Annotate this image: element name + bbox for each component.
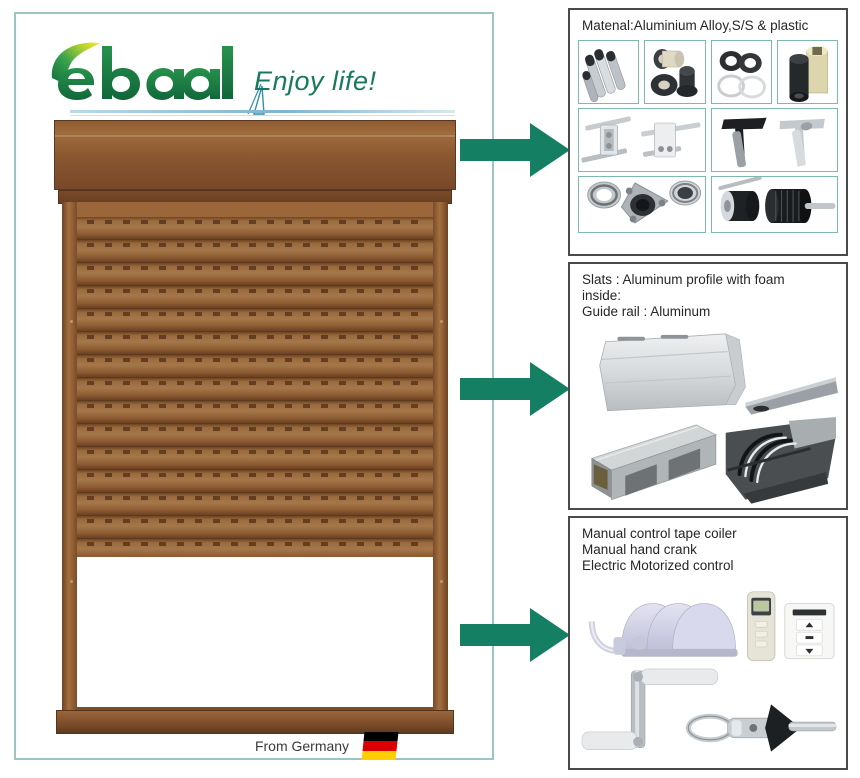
shutter-slat <box>77 447 433 470</box>
hardware-cell-roller-motors <box>711 176 839 233</box>
brand-logo-area: Enjoy life! <box>46 36 466 116</box>
brand-tagline: Enjoy life! <box>254 66 377 97</box>
slats-panel: Slats : Aluminum profile with foam insid… <box>568 262 848 510</box>
product-showcase-panel: Enjoy life! From Germany <box>14 12 494 760</box>
shutter-slat <box>77 263 433 286</box>
shutter-slat <box>77 309 433 332</box>
material-panel-title: Matenal:Aluminium Alloy,S/S & plastic <box>570 10 846 36</box>
shutter-slat <box>77 240 433 263</box>
shutter-curtain-slats <box>77 217 433 557</box>
slat-ventilation-holes <box>87 220 423 224</box>
infographic-canvas: Enjoy life! From Germany <box>0 0 860 778</box>
hardware-row <box>578 176 838 233</box>
origin-footer: From Germany <box>166 726 486 766</box>
guide-rail-images <box>578 415 838 508</box>
slats-panel-title: Slats : Aluminum profile with foam insid… <box>570 264 846 322</box>
crank-tools-image <box>578 663 838 758</box>
slat-ventilation-holes <box>87 358 423 362</box>
window-glass-panel <box>77 557 433 707</box>
frame-screw <box>440 320 443 323</box>
window-frame-inner <box>77 217 433 707</box>
slats-title-line-3: Guide rail : Aluminum <box>582 304 836 320</box>
coilers-remote-switch-image <box>578 578 838 663</box>
slat-ventilation-holes <box>87 289 423 293</box>
hardware-cell-aluminium-tubes <box>578 40 639 104</box>
shutter-slat <box>77 401 433 424</box>
window-frame <box>62 202 448 722</box>
shutter-slat <box>77 516 433 539</box>
controls-title-line-3: Electric Motorized control <box>582 558 836 574</box>
slat-ventilation-holes <box>87 335 423 339</box>
slat-ventilation-holes <box>87 496 423 500</box>
slats-title-line-2: inside: <box>582 288 836 304</box>
shutter-slat <box>77 493 433 516</box>
hardware-cell-rings <box>711 40 772 104</box>
arrow-to-controls-panel <box>460 604 572 666</box>
slat-ventilation-holes <box>87 450 423 454</box>
frame-screw <box>70 580 73 583</box>
shutter-slat <box>77 378 433 401</box>
slat-ventilation-holes <box>87 427 423 431</box>
slat-ventilation-holes <box>87 381 423 385</box>
hardware-cell-plastic-end-caps <box>644 40 705 104</box>
frame-screw <box>440 580 443 583</box>
shutter-slat <box>77 355 433 378</box>
controls-images <box>570 576 846 759</box>
slat-ventilation-holes <box>87 404 423 408</box>
germany-flag-icon <box>362 732 399 760</box>
shutter-slat <box>77 539 433 557</box>
frame-screw <box>70 320 73 323</box>
arrow-to-material-panel <box>460 119 572 181</box>
slat-ventilation-holes <box>87 519 423 523</box>
hardware-cell-bearings-flange <box>578 176 706 233</box>
arrow-to-slats-panel <box>460 358 572 420</box>
shutter-slat <box>77 286 433 309</box>
material-panel: Matenal:Aluminium Alloy,S/S & plastic <box>568 8 848 256</box>
guide-rail-right <box>433 202 448 722</box>
shutter-slat <box>77 332 433 355</box>
slat-ventilation-holes <box>87 542 423 546</box>
hardware-grid <box>570 36 846 239</box>
slat-ventilation-holes <box>87 266 423 270</box>
slat-ventilation-holes <box>87 312 423 316</box>
slat-ventilation-holes <box>87 473 423 477</box>
hardware-cell-tube-adapter <box>777 40 838 104</box>
controls-title-line-1: Manual control tape coiler <box>582 526 836 542</box>
shutter-slat <box>77 470 433 493</box>
hardware-cell-axle-brackets <box>578 108 706 172</box>
controls-title-line-2: Manual hand crank <box>582 542 836 558</box>
hardware-row <box>578 108 838 172</box>
aluminum-slat-profile-image <box>578 324 838 415</box>
ebaal-logo-icon <box>46 38 246 102</box>
slat-ventilation-holes <box>87 243 423 247</box>
hardware-cell-t-supports <box>711 108 839 172</box>
slats-images <box>570 322 846 509</box>
hardware-row <box>578 40 838 104</box>
shutter-box-head <box>54 120 456 190</box>
roller-shutter-product-image <box>44 110 464 732</box>
controls-panel: Manual control tape coiler Manual hand c… <box>568 516 848 770</box>
controls-panel-title: Manual control tape coiler Manual hand c… <box>570 518 846 576</box>
slats-title-line-1: Slats : Aluminum profile with foam <box>582 272 836 288</box>
shutter-slat <box>77 217 433 240</box>
guide-rail-left <box>62 202 77 722</box>
shutter-slat <box>77 424 433 447</box>
origin-label: From Germany <box>255 738 349 754</box>
